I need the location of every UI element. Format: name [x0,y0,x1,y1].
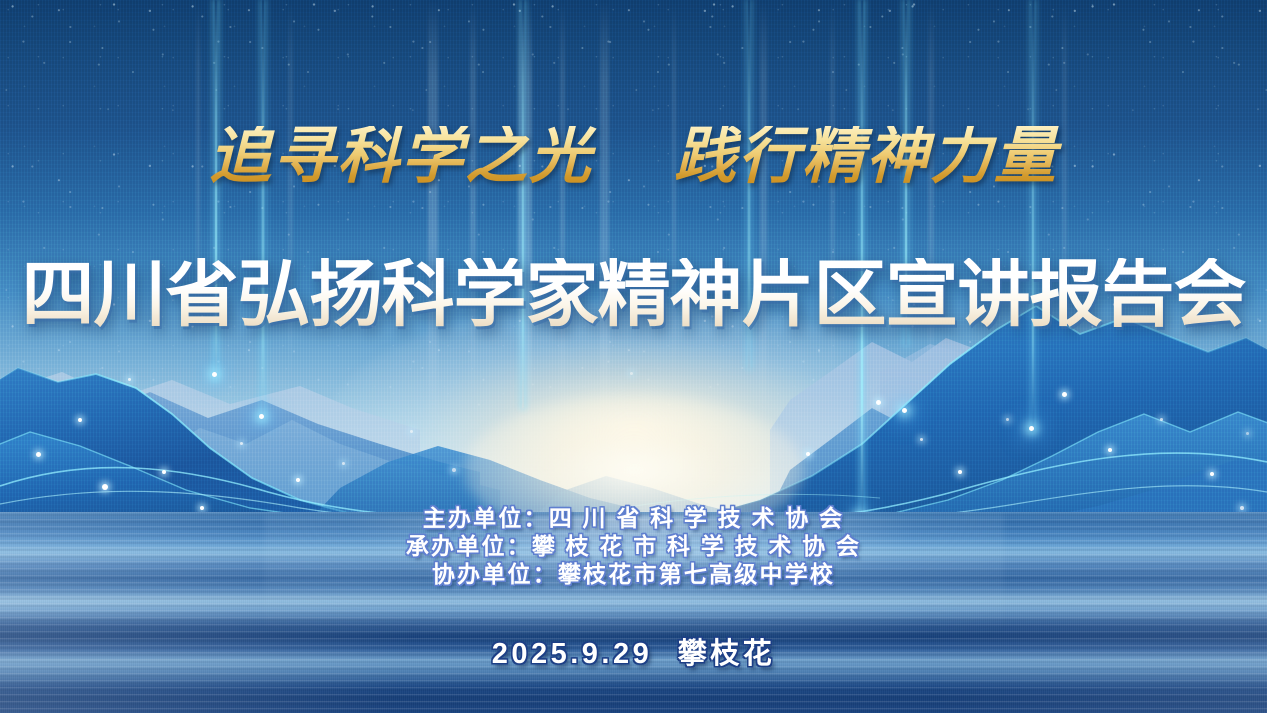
headline-calligraphy: 追寻科学之光 践行精神力量 [0,126,1267,188]
event-city: 攀枝花 [678,638,776,670]
event-date: 2025.9.29 [492,638,653,670]
organizer-line-coorganizer: 协办单位：攀枝花市第七高级中学校 [0,560,1267,588]
particle-1 [78,418,82,422]
particle-12 [630,372,633,375]
particle-19 [1108,448,1112,452]
light-beam-spark-4 [902,408,907,413]
light-beam-cyan-7 [1032,0,1034,432]
particle-10 [410,430,413,433]
particle-3 [36,452,41,457]
page-title: 四川省弘扬科学家精神片区宣讲报告会 [0,258,1267,331]
organizer-line-undertaker: 承办单位：攀 枝 花 市 科 学 技 术 协 会 [0,532,1267,560]
particle-6 [240,442,243,445]
event-date-location: 2025.9.29 攀枝花 [0,630,1267,672]
particle-18 [1062,392,1067,397]
particle-22 [1246,432,1249,435]
particle-20 [1160,418,1163,421]
particle-8 [342,462,345,465]
particle-11 [452,468,456,472]
light-beam-cyan-2 [262,0,264,420]
particle-15 [920,438,923,441]
headline-part-1: 追寻科学之光 [209,123,593,191]
light-beam-spark-1 [212,372,217,377]
particle-17 [1006,418,1009,421]
particle-13 [806,452,810,456]
light-beam-spark-2 [259,414,264,419]
organizer-line-host: 主办单位：四 川 省 科 学 技 术 协 会 [0,504,1267,532]
particle-7 [296,478,300,482]
particle-5 [102,484,108,490]
particle-4 [162,470,166,474]
particle-21 [1210,472,1214,476]
headline-part-2: 践行精神力量 [674,123,1058,191]
light-beam-cyan-3 [522,0,524,408]
poster-canvas: 追寻科学之光 践行精神力量 四川省弘扬科学家精神片区宣讲报告会 主办单位：四 川… [0,0,1267,713]
organizer-list: 主办单位：四 川 省 科 学 技 术 协 会 承办单位：攀 枝 花 市 科 学 … [0,504,1267,588]
particle-14 [876,400,881,405]
particle-2 [128,378,131,381]
particle-16 [958,470,962,474]
light-beam-spark-5 [1029,426,1034,431]
